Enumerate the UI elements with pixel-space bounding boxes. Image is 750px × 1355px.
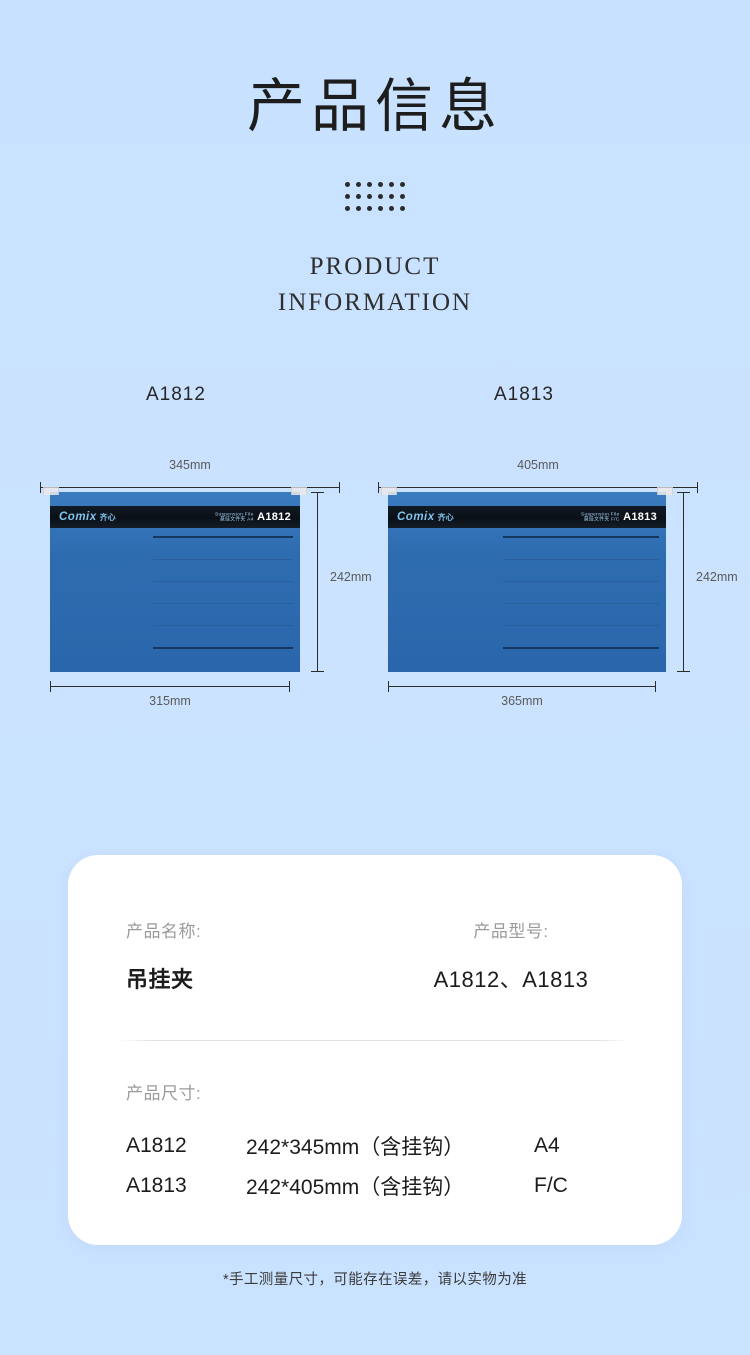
folder-band-right-a1813: Suspension File 悬挂文件夹 F/C A1813 [591,511,658,523]
size-row-model: A1812 [120,1126,246,1166]
dimension-side-label-a1812: 242mm [330,570,372,584]
brand-en: Comix [59,511,97,523]
folder-band-a1812: Comix 齐心 Suspension File 悬挂文件夹 A4 A1812 [50,506,300,528]
size-row-standard: F/C [508,1166,630,1206]
subtitle-line-1: PRODUCT [0,249,750,285]
size-row-dimension: 242*405mm（含挂钩） [246,1166,508,1206]
measurement-footnote: *手工测量尺寸，可能存在误差，请以实物为准 [0,1268,750,1289]
dimension-side-label-a1813: 242mm [696,570,738,584]
brand-en: Comix [397,511,435,523]
ruled-line [503,603,659,604]
hook-right-icon [657,487,673,495]
dot [367,194,372,199]
band-fineprint-a1813: Suspension File 悬挂文件夹 F/C [591,512,620,520]
product-size-table: A1812 242*345mm（含挂钩） A4 A1813 242*405mm（… [120,1126,630,1206]
product-diagram-a1812: 345mm Comix 齐心 Suspension File 悬挂文件夹 A4 [40,458,340,714]
dot [389,194,394,199]
dimension-side-rule-a1813 [683,492,684,672]
model-label-row: A1812 A1813 [0,384,750,416]
folder-image-a1812: Comix 齐心 Suspension File 悬挂文件夹 A4 A1812 [50,492,300,672]
size-row-model: A1813 [120,1166,246,1206]
product-diagram-a1813: 405mm Comix 齐心 Suspension File 悬挂文件夹 F/C [378,458,698,714]
band-fineprint-line2: 悬挂文件夹 A4 [214,516,253,522]
dot [378,206,383,211]
dot [345,182,350,187]
product-model-value: A1812、A1813 [392,962,630,994]
dot [356,194,361,199]
dimension-side-a1813: 242mm [674,492,714,672]
comix-logo: Comix 齐心 [59,511,116,523]
dimension-top-rule-a1813 [378,487,698,488]
dot [345,194,350,199]
product-model-label: 产品型号: [392,917,630,942]
dot [367,206,372,211]
folder-image-a1813: Comix 齐心 Suspension File 悬挂文件夹 F/C A1813 [388,492,666,672]
product-name-label: 产品名称: [120,917,392,942]
ruled-line [503,647,659,649]
size-row-dimension: 242*345mm（含挂钩） [246,1126,508,1166]
dimension-side-a1812: 242mm [308,492,348,672]
dot [400,206,405,211]
hook-left-icon [43,487,59,495]
band-code-a1812: A1812 [257,511,291,523]
product-size-section: 产品尺寸: A1812 242*345mm（含挂钩） A4 A1813 242*… [120,1041,630,1206]
dot [356,182,361,187]
brand-cn: 齐心 [438,512,454,523]
ruled-line [153,625,293,626]
dimension-side-rule-a1812 [317,492,318,672]
hook-left-icon [381,487,397,495]
brand-cn: 齐心 [100,512,116,523]
folder-band-right-a1812: Suspension File 悬挂文件夹 A4 A1812 [225,511,292,523]
dot [356,206,361,211]
dimension-bottom-a1813: 365mm [378,680,698,714]
subtitle-line-2: INFORMATION [0,285,750,321]
ruled-line [153,581,293,582]
dimension-top-a1813: 405mm [378,458,698,492]
model-label-a1812: A1812 [146,384,206,406]
folder-ruled-lines-a1813 [503,536,659,664]
product-model-field: 产品型号: A1812、A1813 [392,917,630,994]
dot [400,194,405,199]
ruled-line [503,559,659,560]
dot [389,206,394,211]
product-info-card: 产品名称: 吊挂夹 产品型号: A1812、A1813 产品尺寸: A1812 … [68,855,682,1245]
folder-ruled-lines-a1812 [153,536,293,664]
dot [367,182,372,187]
ruled-line [153,603,293,604]
page-title: 产品信息 [0,0,750,136]
dimension-bottom-a1812: 315mm [40,680,340,714]
folder-band-a1813: Comix 齐心 Suspension File 悬挂文件夹 F/C A1813 [388,506,666,528]
dimension-bottom-label-a1813: 365mm [388,694,656,708]
hook-right-icon [291,487,307,495]
dimension-bottom-rule-a1813 [388,686,656,687]
dimension-top-label-a1813: 405mm [378,458,698,472]
dot [378,182,383,187]
band-fineprint-a1812: Suspension File 悬挂文件夹 A4 [225,512,254,520]
product-name-field: 产品名称: 吊挂夹 [120,917,392,994]
comix-logo: Comix 齐心 [397,511,454,523]
size-row-standard: A4 [508,1126,630,1166]
dimension-bottom-rule-a1812 [50,686,290,687]
table-row: A1812 242*345mm（含挂钩） A4 [120,1126,630,1166]
dot [378,194,383,199]
dot [345,206,350,211]
ruled-line [153,559,293,560]
ruled-line [153,647,293,649]
band-code-a1813: A1813 [623,511,657,523]
ruled-line [503,581,659,582]
page-subtitle: PRODUCT INFORMATION [0,249,750,322]
band-fineprint-line2: 悬挂文件夹 F/C [580,516,619,522]
product-diagrams: 345mm Comix 齐心 Suspension File 悬挂文件夹 A4 [0,458,750,748]
table-row: A1813 242*405mm（含挂钩） F/C [120,1166,630,1206]
dot [389,182,394,187]
dimension-top-label-a1812: 345mm [40,458,340,472]
ruled-line [503,625,659,626]
dimension-bottom-label-a1812: 315mm [50,694,290,708]
product-size-label: 产品尺寸: [120,1079,630,1104]
model-label-a1813: A1813 [494,384,554,406]
product-name-value: 吊挂夹 [120,962,392,994]
info-row-primary: 产品名称: 吊挂夹 产品型号: A1812、A1813 [120,855,630,994]
dot-grid-ornament [342,182,408,211]
dot [400,182,405,187]
